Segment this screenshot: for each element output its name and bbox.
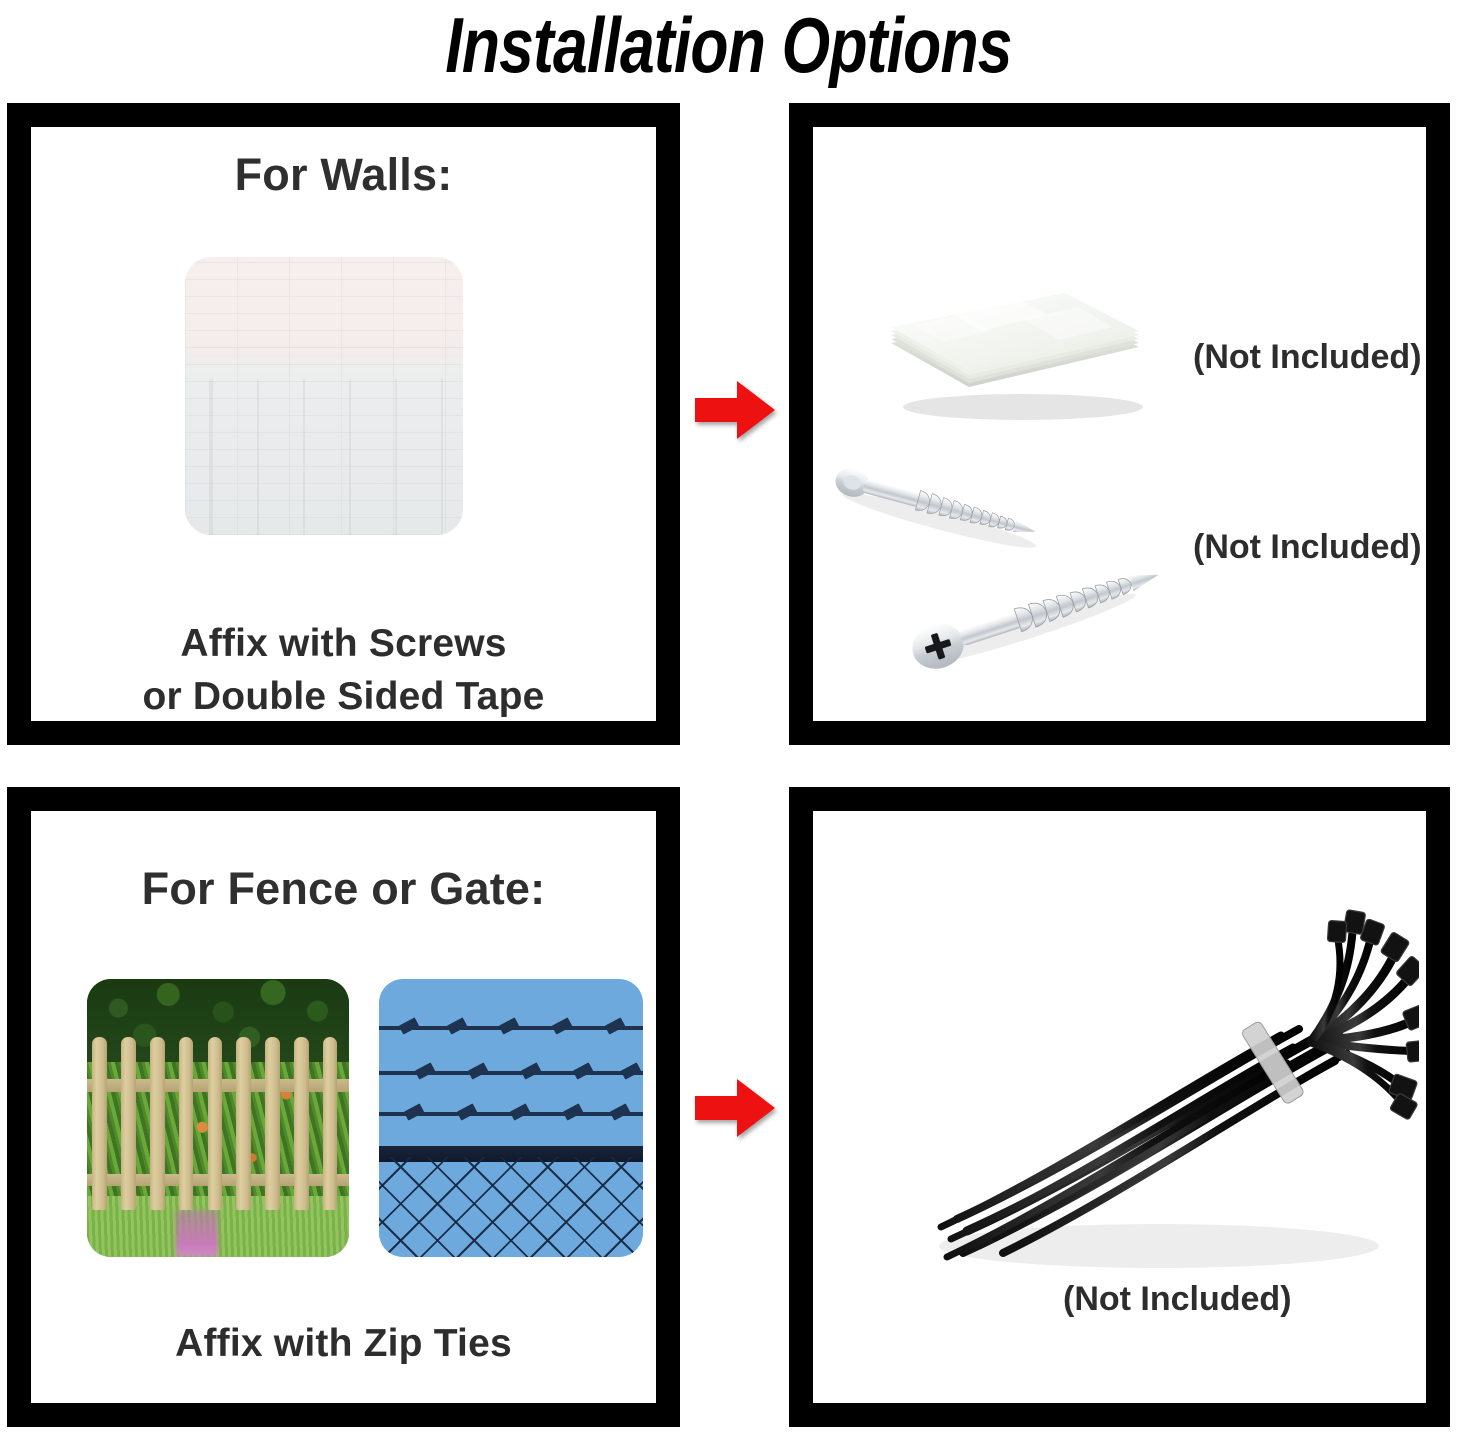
for-walls-caption-line2: or Double Sided Tape [31,672,656,721]
for-fence-heading: For Fence or Gate: [31,863,656,915]
arrow-fence-to-zipties-icon [693,1076,777,1140]
panel-wall-hardware: (Not Included) [789,103,1450,745]
wooden-picket-fence-image [87,979,349,1257]
chain-link-barbed-wire-fence-image [379,979,643,1257]
panel-zip-ties-content: (Not Included) [813,811,1426,1403]
panel-for-fence-or-gate: For Fence or Gate: [7,787,680,1427]
tape-not-included-label: (Not Included) [1193,337,1422,377]
panel-for-walls-content: For Walls: Affix with Screws or Double S… [31,127,656,721]
arrow-walls-to-hardware-icon [693,378,777,442]
for-walls-heading: For Walls: [31,149,656,201]
panel-for-fence-or-gate-content: For Fence or Gate: [31,811,656,1403]
panel-zip-ties: (Not Included) [789,787,1450,1427]
wood-screws-image [831,445,1191,675]
white-brick-wall-image [185,257,463,535]
for-walls-caption-line1: Affix with Screws [31,619,656,669]
page-title: Installation Options [146,2,1312,88]
for-fence-caption: Affix with Zip Ties [31,1319,656,1369]
black-zip-ties-bundle-image [859,901,1419,1301]
panel-for-walls: For Walls: Affix with Screws or Double S… [7,103,680,745]
double-sided-tape-stack-image [873,247,1173,427]
screws-not-included-label: (Not Included) [1193,527,1422,567]
zip-ties-not-included-label: (Not Included) [1063,1279,1292,1319]
panel-wall-hardware-content: (Not Included) [813,127,1426,721]
